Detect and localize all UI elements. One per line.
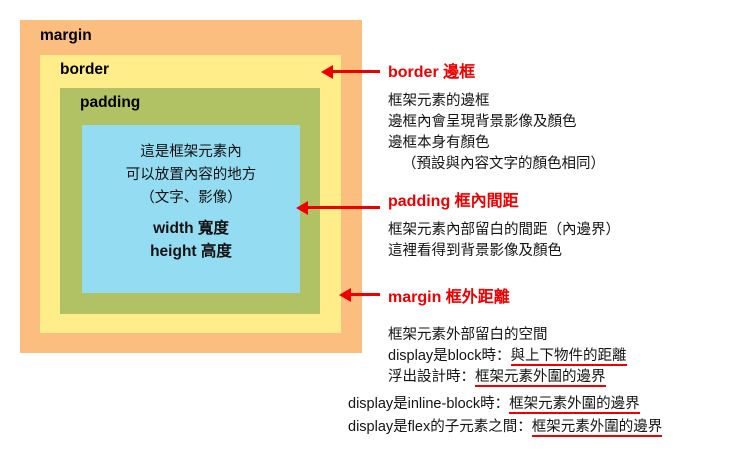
- border-arrow-icon: [332, 70, 380, 73]
- content-line-3: （文字、影像）: [82, 187, 300, 210]
- margin-layer-label: margin: [40, 27, 92, 45]
- bottom-note-1-prefix: display是inline-block時：: [348, 396, 509, 412]
- margin-line-2-prefix: display是block時：: [388, 348, 511, 364]
- margin-annotation-line-2: display是block時：與上下物件的距離: [388, 346, 750, 367]
- margin-annotation-line-3: 浮出設計時：框架元素外圍的邊界: [388, 367, 750, 388]
- bottom-note-line-2: display是flex的子元素之間：框架元素外圍的邊界: [348, 416, 750, 439]
- border-layer-label: border: [60, 61, 109, 79]
- margin-arrow-icon: [350, 293, 380, 296]
- margin-line-2-emphasis: 與上下物件的距離: [511, 348, 627, 366]
- content-height-label: height 高度: [82, 240, 300, 263]
- padding-annotation-line-2: 這裡看得到背景影像及顏色: [388, 241, 750, 262]
- margin-annotation: margin 框外距離 框架元素外部留白的空間 display是block時：與…: [388, 283, 750, 388]
- content-width-label: width 寬度: [82, 217, 300, 240]
- border-annotation-line-2: 邊框內會呈現背景影像及顏色: [388, 112, 750, 133]
- border-annotation-line-1: 框架元素的邊框: [388, 91, 750, 112]
- padding-annotation-heading: padding 框內間距: [388, 187, 750, 211]
- border-annotation-body: 框架元素的邊框 邊框內會呈現背景影像及顏色 邊框本身有顏色 （預設與內容文字的顏…: [388, 91, 750, 175]
- bottom-note-2-prefix: display是flex的子元素之間：: [348, 419, 532, 435]
- bottom-note-2-emphasis: 框架元素外圍的邊界: [532, 419, 663, 437]
- margin-line-3-emphasis: 框架元素外圍的邊界: [475, 369, 606, 387]
- box-model-diagram: margin border padding 這是框架元素內 可以放置內容的地方 …: [20, 20, 362, 353]
- margin-annotation-line-1: 框架元素外部留白的空間: [388, 325, 750, 346]
- padding-annotation-body: 框架元素內部留白的間距（內邊界） 這裡看得到背景影像及顏色: [388, 220, 750, 262]
- margin-annotation-heading: margin 框外距離: [388, 283, 750, 307]
- border-annotation: border 邊框 框架元素的邊框 邊框內會呈現背景影像及顏色 邊框本身有顏色 …: [388, 58, 750, 175]
- content-description: 這是框架元素內 可以放置內容的地方 （文字、影像） width 寬度 heigh…: [82, 141, 300, 263]
- bottom-note-1-emphasis: 框架元素外圍的邊界: [509, 396, 640, 414]
- border-annotation-line-3: 邊框本身有顏色: [388, 133, 750, 154]
- content-spacer: [82, 210, 300, 217]
- content-line-1: 這是框架元素內: [82, 141, 300, 164]
- content-line-2: 可以放置內容的地方: [82, 164, 300, 187]
- border-annotation-line-4: （預設與內容文字的顏色相同）: [388, 154, 750, 175]
- border-annotation-heading: border 邊框: [388, 58, 750, 82]
- bottom-note-line-1: display是inline-block時：框架元素外圍的邊界: [348, 393, 750, 416]
- padding-annotation-line-1: 框架元素內部留白的間距（內邊界）: [388, 220, 750, 241]
- bottom-notes: display是inline-block時：框架元素外圍的邊界 display是…: [348, 393, 750, 439]
- margin-line-3-prefix: 浮出設計時：: [388, 369, 475, 385]
- margin-annotation-body: 框架元素外部留白的空間 display是block時：與上下物件的距離 浮出設計…: [388, 325, 750, 388]
- content-layer: 這是框架元素內 可以放置內容的地方 （文字、影像） width 寬度 heigh…: [82, 125, 300, 293]
- padding-annotation: padding 框內間距 框架元素內部留白的間距（內邊界） 這裡看得到背景影像及…: [388, 187, 750, 262]
- padding-arrow-icon: [307, 206, 380, 209]
- padding-layer-label: padding: [80, 94, 140, 112]
